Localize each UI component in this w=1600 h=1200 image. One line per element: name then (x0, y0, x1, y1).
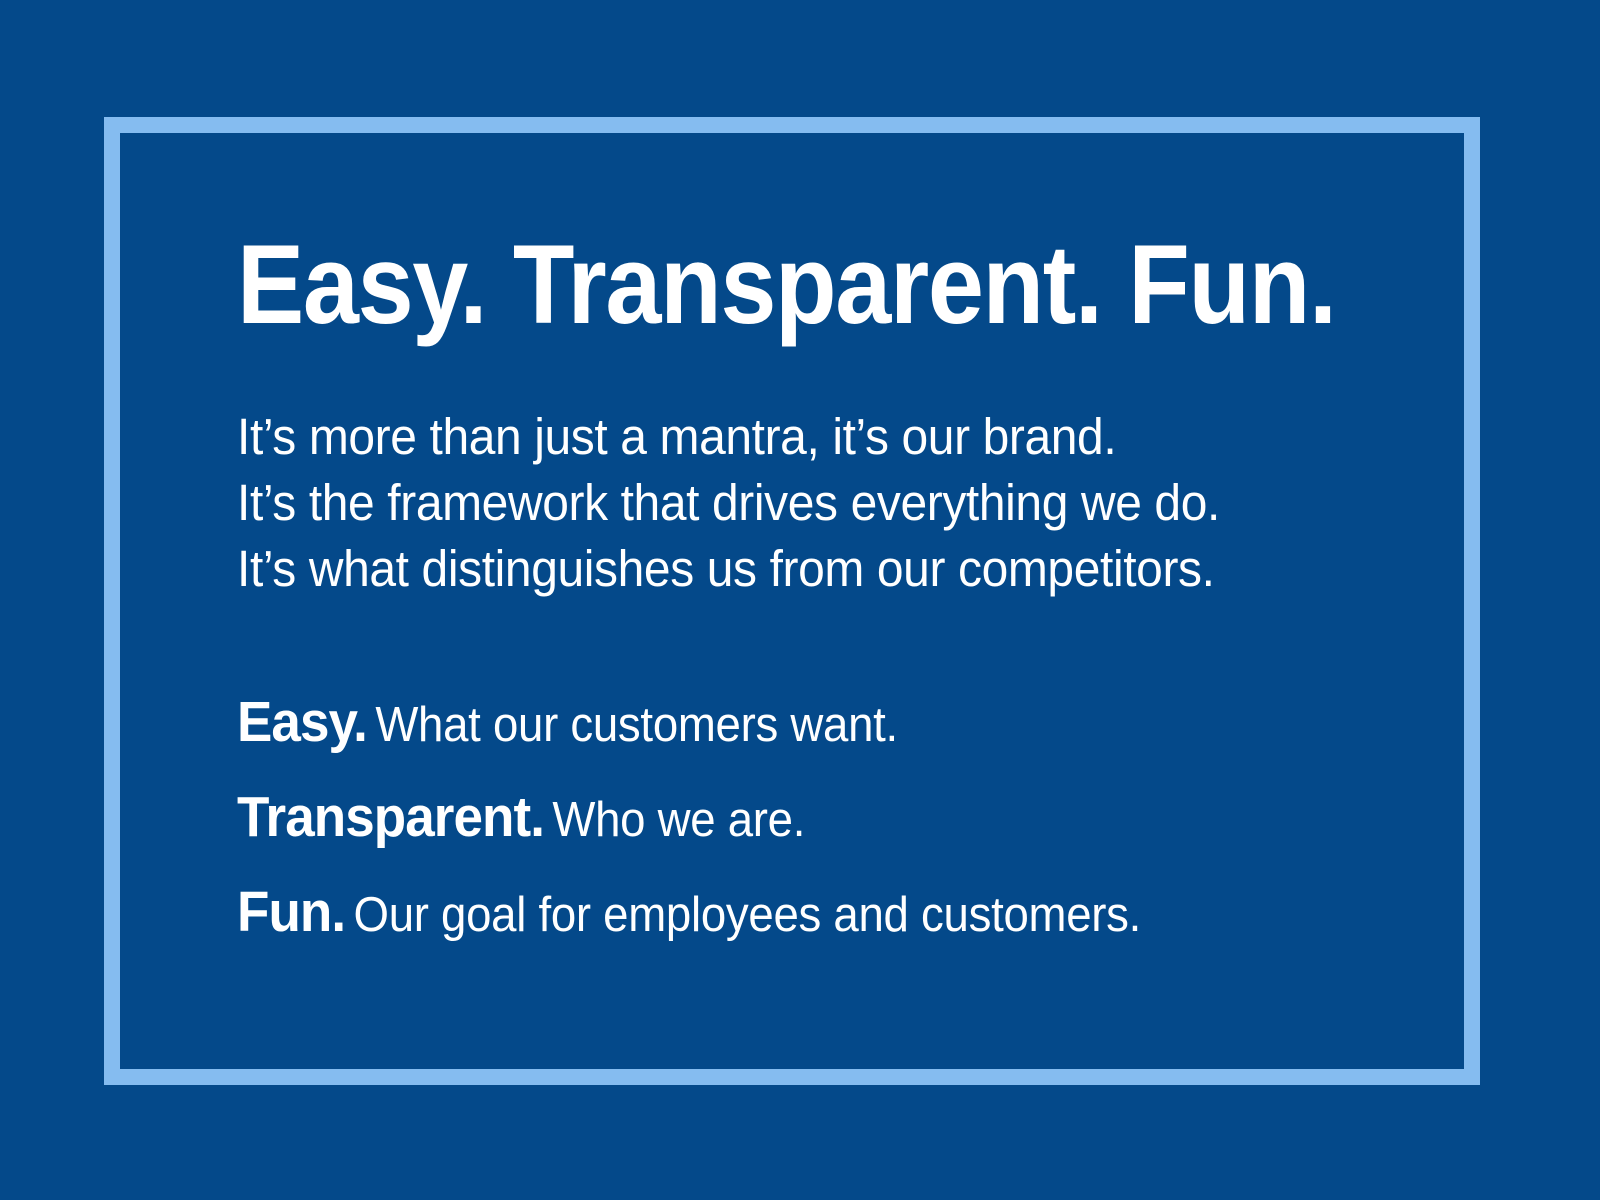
pillar-description: Who we are. (552, 793, 805, 847)
intro-line: It’s more than just a mantra, it’s our b… (237, 404, 1220, 470)
intro-line: It’s what distinguishes us from our comp… (237, 536, 1220, 602)
pillar-term: Fun. (237, 880, 345, 944)
pillar-term: Easy. (237, 690, 367, 754)
intro-line: It’s the framework that drives everythin… (237, 470, 1220, 536)
slide-content: Easy. Transparent. Fun. It’s more than j… (237, 0, 1437, 1200)
pillar-item-transparent: Transparent.Who we are. (237, 777, 1141, 872)
pillar-item-fun: Fun.Our goal for employees and customers… (237, 872, 1141, 967)
pillar-item-easy: Easy.What our customers want. (237, 682, 1141, 777)
intro-paragraph: It’s more than just a mantra, it’s our b… (237, 404, 1283, 602)
pillar-list: Easy.What our customers want. Transparen… (237, 682, 1209, 967)
pillar-description: What our customers want. (375, 698, 898, 752)
page-title: Easy. Transparent. Fun. (237, 229, 1336, 341)
pillar-description: Our goal for employees and customers. (354, 888, 1142, 942)
pillar-term: Transparent. (237, 785, 544, 849)
brand-mantra-slide: Easy. Transparent. Fun. It’s more than j… (0, 0, 1600, 1200)
